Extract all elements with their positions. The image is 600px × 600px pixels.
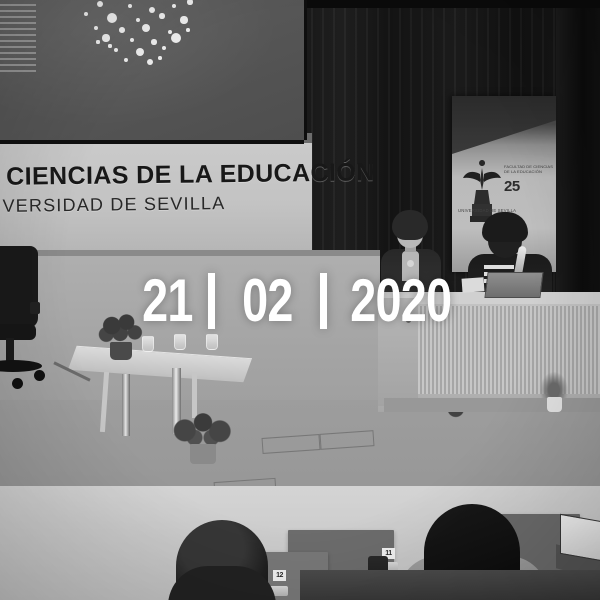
network-dot: [96, 40, 99, 43]
open-laptop-on-desk: [484, 272, 543, 298]
network-dot: [151, 39, 156, 44]
man-hair: [482, 212, 528, 242]
network-dot: [186, 28, 190, 32]
network-dot: [136, 48, 144, 56]
papers-on-desk: [462, 277, 485, 293]
banner-anniversary-number: 25: [504, 178, 520, 195]
potted-plant-on-table: [98, 312, 144, 360]
plant-foliage: [168, 408, 238, 448]
network-dot: [147, 59, 153, 65]
network-dot: [130, 38, 134, 42]
network-dot: [172, 4, 176, 8]
plant-foliage: [98, 312, 144, 346]
network-dot: [180, 16, 187, 23]
network-dot: [158, 56, 162, 60]
necklace: [407, 260, 414, 267]
floor-skirting: [0, 250, 380, 256]
network-dot: [128, 4, 132, 8]
banner-heading: FACULTAD DE CIENCIAS DE LA EDUCACIÓN: [504, 164, 554, 174]
chair-wheel: [12, 378, 23, 389]
panelist-woman: [380, 210, 442, 296]
plant-pot: [547, 397, 562, 412]
desk-knob: [406, 318, 411, 323]
water-glass: [206, 334, 218, 350]
woman-hair: [392, 210, 428, 240]
water-glass: [174, 334, 186, 350]
network-dot: [114, 48, 118, 52]
front-seat-row: [300, 570, 600, 600]
network-dot: [187, 0, 192, 5]
desk-side-panel: [378, 298, 418, 406]
table-leg: [100, 372, 109, 432]
conference-photo: E CIENCIAS DE LA EDUCACIÓN NIVERSIDAD DE…: [0, 0, 600, 600]
network-dot: [102, 34, 109, 41]
plant-pot: [190, 444, 216, 464]
network-dot: [142, 24, 151, 33]
chair-wheel: [34, 370, 45, 381]
network-dot: [136, 18, 140, 22]
network-dot: [124, 58, 128, 62]
tablet-screen: [560, 514, 600, 562]
dot-cluster-network-graphic: [54, 0, 204, 86]
network-dot: [159, 13, 164, 18]
table-glass-top: [68, 346, 252, 383]
network-dot: [107, 13, 117, 23]
floor-plant-left: [168, 408, 238, 464]
right-dark-wall-column: [556, 0, 600, 300]
chair-armrest: [30, 302, 40, 314]
chair-backrest: [0, 246, 38, 328]
network-dot: [94, 26, 98, 30]
wall-sign-line-2: NIVERSIDAD DE SEVILLA: [0, 193, 327, 215]
slide-text-lines: [0, 4, 36, 104]
network-dot: [119, 27, 125, 33]
plant-pot: [110, 342, 132, 360]
network-dot: [171, 33, 181, 43]
network-dot: [84, 12, 89, 17]
table-chrome-leg: [122, 374, 130, 436]
wall-sign: E CIENCIAS DE LA EDUCACIÓN NIVERSIDAD DE…: [0, 161, 327, 227]
water-glass: [142, 336, 154, 352]
desk-fluted-panel: [418, 306, 600, 394]
network-dot: [97, 1, 103, 7]
wall-sign-line-1: E CIENCIAS DE LA EDUCACIÓN: [0, 161, 327, 190]
seat-number: 12: [273, 570, 286, 581]
small-plant-by-desk: [540, 372, 568, 412]
banner-top-shadow: [452, 96, 556, 154]
projection-screen: [0, 0, 304, 140]
network-dot: [162, 46, 167, 51]
network-dot: [108, 44, 111, 47]
plant-foliage: [540, 372, 568, 398]
network-dot: [149, 7, 155, 13]
black-office-chair: [0, 246, 54, 392]
